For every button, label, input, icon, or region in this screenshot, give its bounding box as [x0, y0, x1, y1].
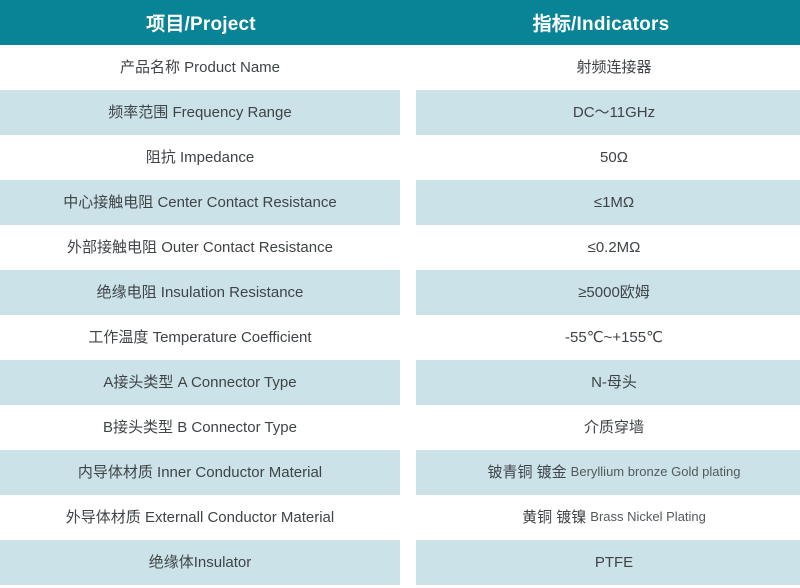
indicator-value: 射频连接器: [576, 59, 651, 76]
table-cell-project: 工作温度 Temperature Coefficient: [0, 315, 400, 360]
table-cell-project: A接头类型 A Connector Type: [0, 360, 400, 405]
indicator-value-english: Beryllium bronze Gold plating: [571, 465, 741, 480]
table-cell-project: B接头类型 B Connector Type: [0, 405, 400, 450]
table-row: 频率范围 Frequency RangeDC～11GHz: [0, 90, 800, 135]
column-divider: [400, 45, 416, 90]
column-divider: [400, 405, 416, 450]
table-cell-indicator: ≤1MΩ: [416, 180, 800, 225]
column-divider: [400, 135, 416, 180]
table-cell-indicator: ≥5000欧姆: [416, 270, 800, 315]
indicator-value: ≥5000欧姆: [578, 284, 650, 301]
table-cell-project: 外部接触电阻 Outer Contact Resistance: [0, 225, 400, 270]
table-cell-project: 绝缘电阻 Insulation Resistance: [0, 270, 400, 315]
table-row: A接头类型 A Connector TypeN-母头: [0, 360, 800, 405]
table-cell-project: 中心接触电阻 Center Contact Resistance: [0, 180, 400, 225]
table-header-row: 项目/Project 指标/Indicators: [0, 0, 800, 45]
indicator-value: -55℃~+155℃: [565, 329, 663, 346]
table-row: 中心接触电阻 Center Contact Resistance≤1MΩ: [0, 180, 800, 225]
indicator-value: N-母头: [591, 374, 637, 391]
column-divider: [400, 495, 416, 540]
indicator-value: ≤1MΩ: [594, 194, 634, 211]
table-cell-indicator: 黄铜 镀镍Brass Nickel Plating: [416, 495, 800, 540]
indicator-value: 黄铜 镀镍: [522, 509, 586, 526]
table-cell-indicator: 50Ω: [416, 135, 800, 180]
table-row: 外导体材质 Externall Conductor Material黄铜 镀镍B…: [0, 495, 800, 540]
column-divider: [400, 90, 416, 135]
table-cell-indicator: DC～11GHz: [416, 90, 800, 135]
table-row: 外部接触电阻 Outer Contact Resistance≤0.2MΩ: [0, 225, 800, 270]
table-header-project: 项目/Project: [0, 0, 402, 45]
table-cell-project: 产品名称 Product Name: [0, 45, 400, 90]
table-cell-indicator: ≤0.2MΩ: [416, 225, 800, 270]
column-divider: [400, 315, 416, 360]
indicator-value: ≤0.2MΩ: [588, 239, 641, 256]
specification-table: 项目/Project 指标/Indicators 产品名称 Product Na…: [0, 0, 800, 588]
table-row: 绝缘电阻 Insulation Resistance≥5000欧姆: [0, 270, 800, 315]
indicator-value: 铍青铜 镀金: [488, 464, 567, 481]
table-cell-indicator: 介质穿墙: [416, 405, 800, 450]
indicator-value: 50Ω: [600, 149, 628, 166]
table-cell-project: 绝缘体Insulator: [0, 540, 400, 585]
column-divider: [400, 450, 416, 495]
table-row: 工作温度 Temperature Coefficient-55℃~+155℃: [0, 315, 800, 360]
column-divider: [400, 180, 416, 225]
table-header-indicators: 指标/Indicators: [402, 0, 800, 45]
indicator-value: PTFE: [595, 554, 633, 571]
table-row: 内导体材质 Inner Conductor Material铍青铜 镀金Bery…: [0, 450, 800, 495]
table-cell-project: 内导体材质 Inner Conductor Material: [0, 450, 400, 495]
table-cell-indicator: N-母头: [416, 360, 800, 405]
table-cell-indicator: -55℃~+155℃: [416, 315, 800, 360]
table-cell-indicator: 射频连接器: [416, 45, 800, 90]
table-row: 产品名称 Product Name射频连接器: [0, 45, 800, 90]
table-cell-project: 频率范围 Frequency Range: [0, 90, 400, 135]
table-cell-indicator: 铍青铜 镀金Beryllium bronze Gold plating: [416, 450, 800, 495]
table-cell-indicator: PTFE: [416, 540, 800, 585]
table-row: 绝缘体InsulatorPTFE: [0, 540, 800, 585]
column-divider: [400, 270, 416, 315]
column-divider: [400, 225, 416, 270]
column-divider: [400, 360, 416, 405]
indicator-value: 介质穿墙: [584, 419, 644, 436]
table-row: B接头类型 B Connector Type介质穿墙: [0, 405, 800, 450]
column-divider: [400, 540, 416, 585]
table-body: 产品名称 Product Name射频连接器频率范围 Frequency Ran…: [0, 45, 800, 585]
table-row: 阻抗 Impedance50Ω: [0, 135, 800, 180]
table-cell-project: 外导体材质 Externall Conductor Material: [0, 495, 400, 540]
table-cell-project: 阻抗 Impedance: [0, 135, 400, 180]
indicator-value-english: Brass Nickel Plating: [590, 510, 706, 525]
indicator-value: DC～11GHz: [573, 104, 655, 121]
